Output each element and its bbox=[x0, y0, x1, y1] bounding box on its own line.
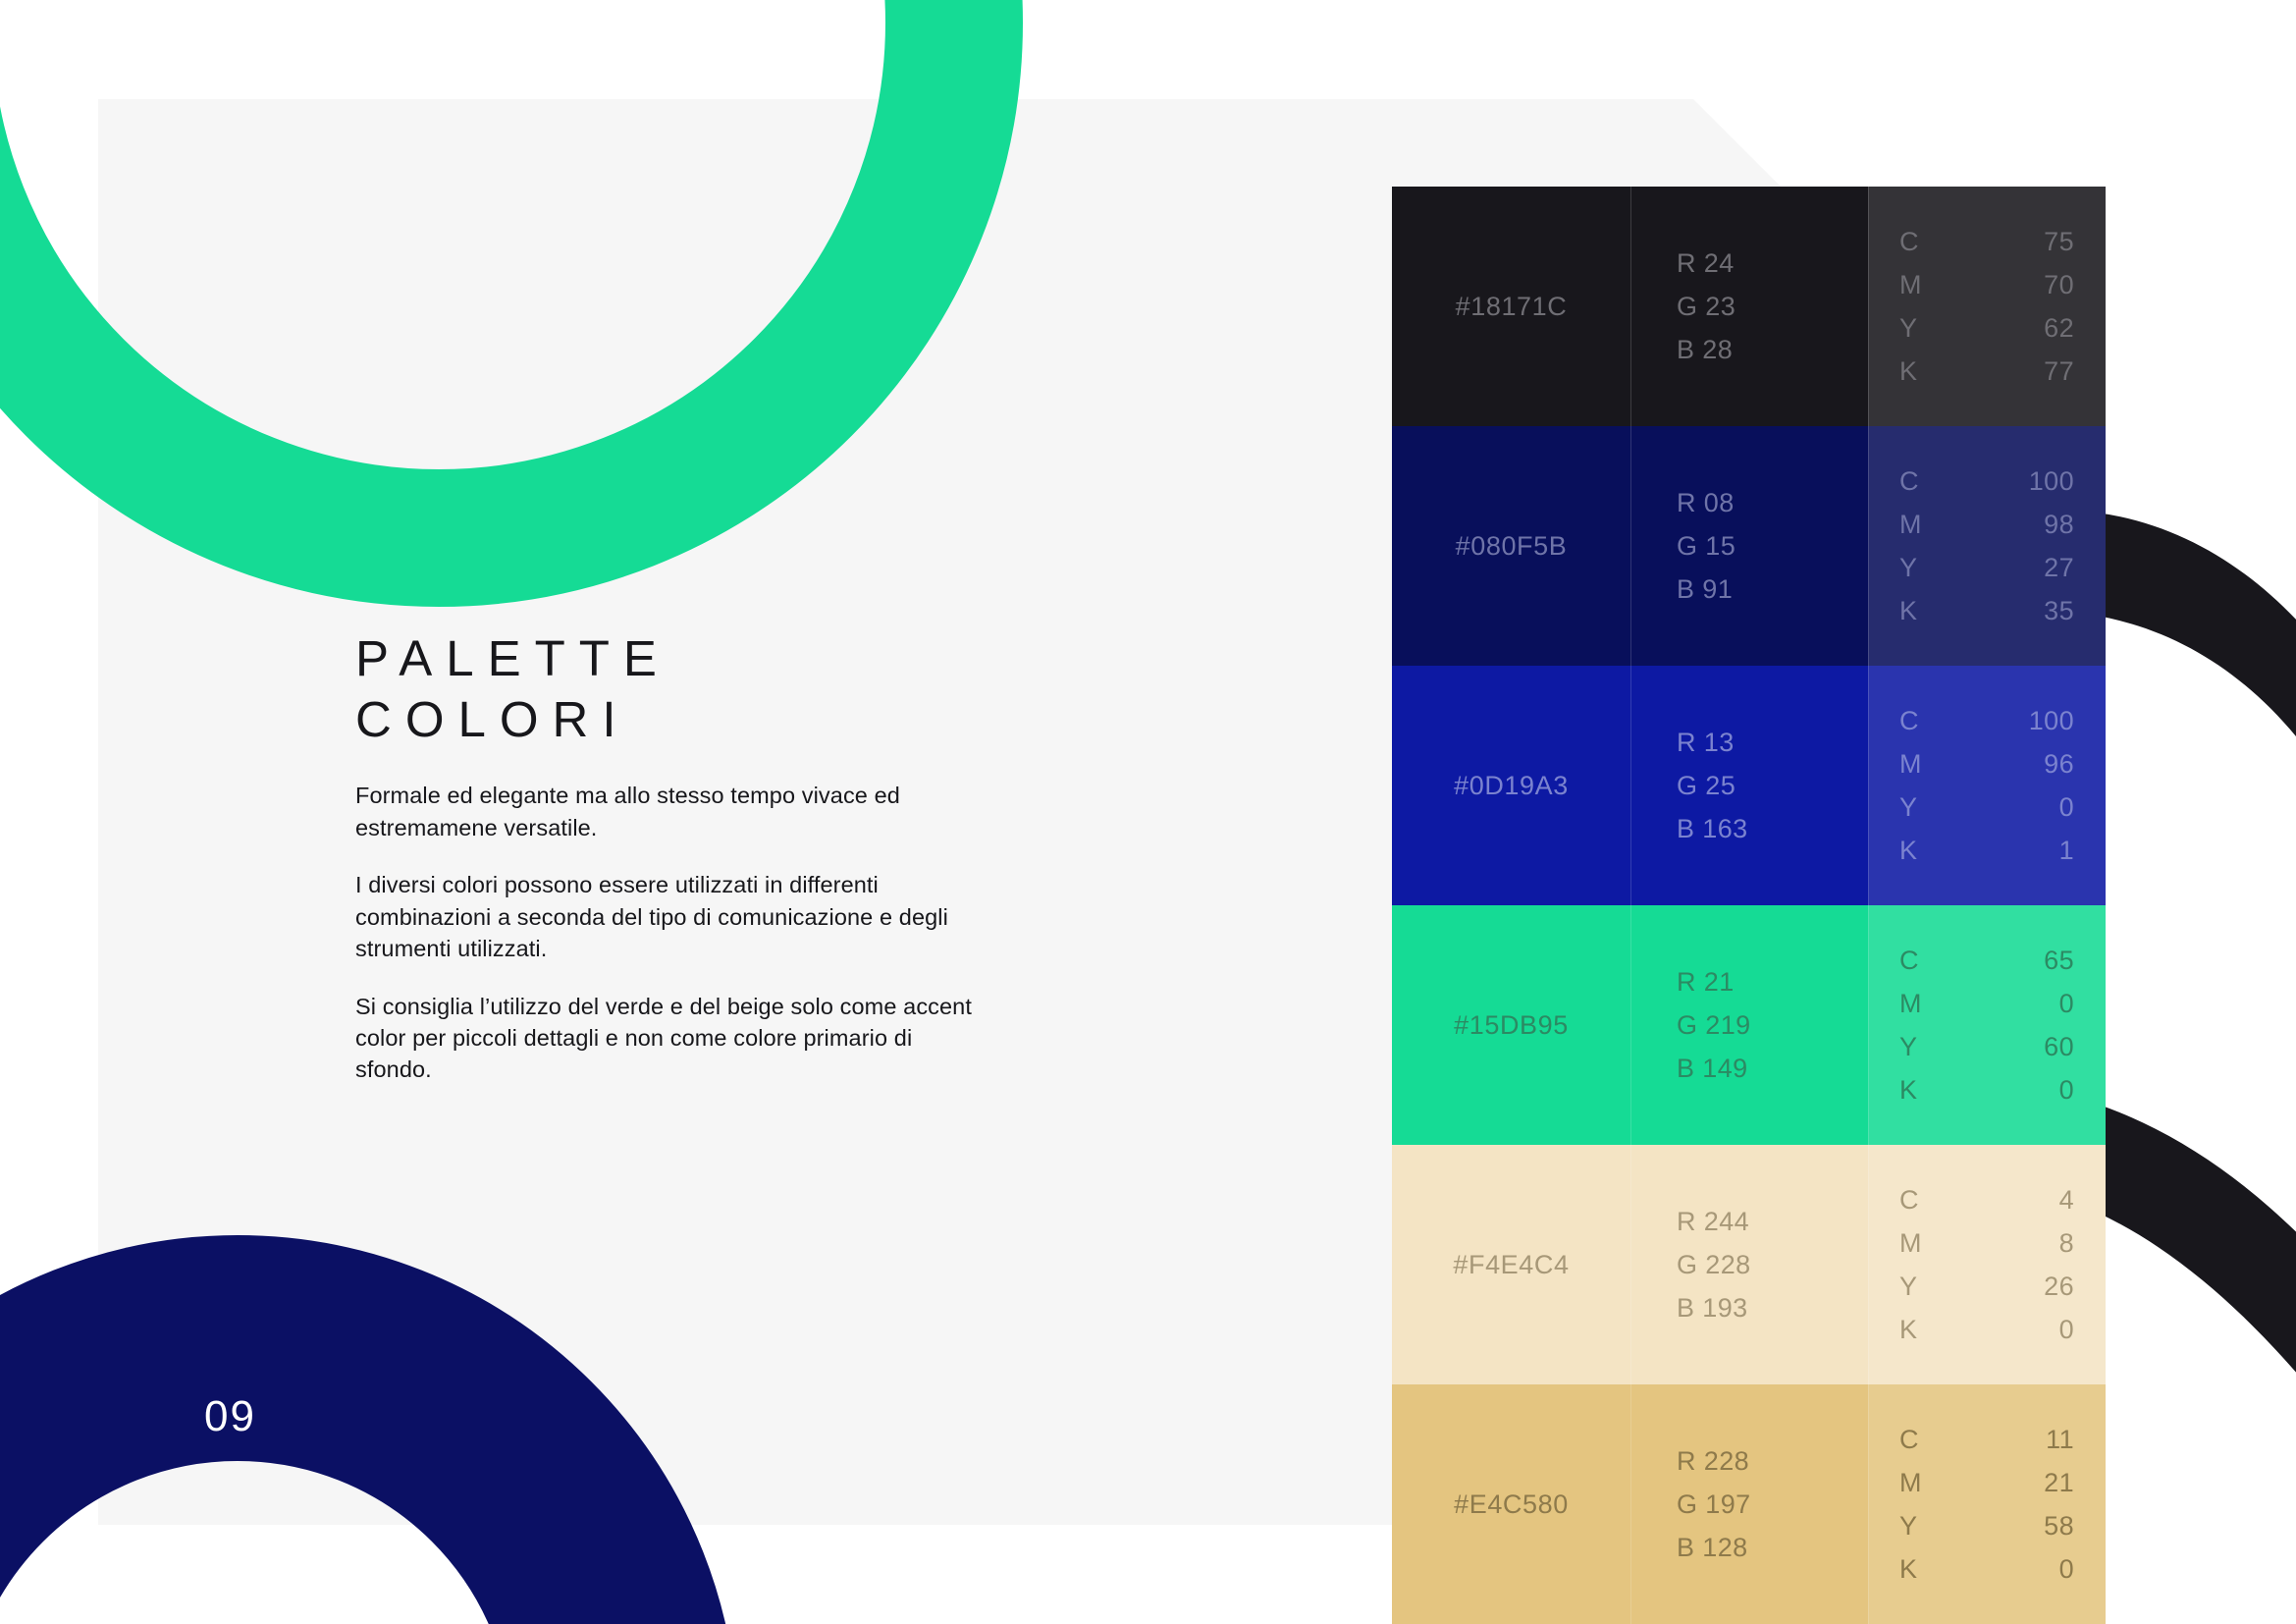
swatch-rgb-cell: R 13 G 25 B 163 bbox=[1630, 666, 1868, 905]
cmyk-value-y: 26 bbox=[2044, 1272, 2074, 1302]
text-column: PALETTE COLORI Formale ed elegante ma al… bbox=[355, 628, 984, 1086]
rgb-red-value: R 13 bbox=[1677, 728, 1748, 758]
rgb-blue-value: B 28 bbox=[1677, 335, 1735, 365]
cmyk-key-c: C bbox=[1899, 466, 1922, 497]
rgb-green-value: G 219 bbox=[1677, 1010, 1751, 1041]
swatch-row[interactable]: #E4C580 R 228 G 197 B 128 C M Y K bbox=[1392, 1384, 2106, 1624]
swatch-cmyk-cell: C M Y K 4 8 26 0 bbox=[1868, 1145, 2106, 1384]
swatch-cmyk-cell: C M Y K 100 98 27 35 bbox=[1868, 426, 2106, 666]
page-number: 09 bbox=[204, 1392, 256, 1441]
cmyk-key-k: K bbox=[1899, 836, 1922, 866]
rgb-red-value: R 08 bbox=[1677, 488, 1735, 518]
cmyk-value-m: 0 bbox=[2044, 989, 2074, 1019]
cmyk-value-c: 100 bbox=[2029, 706, 2074, 736]
cmyk-key-k: K bbox=[1899, 356, 1922, 387]
cmyk-key-k: K bbox=[1899, 596, 1922, 626]
rgb-blue-value: B 128 bbox=[1677, 1533, 1751, 1563]
cmyk-value-k: 0 bbox=[2044, 1315, 2074, 1345]
rgb-red-value: R 228 bbox=[1677, 1446, 1751, 1477]
intro-paragraph-1: Formale ed elegante ma allo stesso tempo… bbox=[355, 780, 984, 843]
cmyk-value-c: 4 bbox=[2044, 1185, 2074, 1216]
swatch-hex-cell: #080F5B bbox=[1392, 426, 1630, 666]
cmyk-key-m: M bbox=[1899, 1228, 1922, 1259]
rgb-green-value: G 15 bbox=[1677, 531, 1735, 562]
cmyk-value-m: 21 bbox=[2044, 1468, 2074, 1498]
cmyk-key-c: C bbox=[1899, 1425, 1922, 1455]
swatch-row[interactable]: #F4E4C4 R 244 G 228 B 193 C M Y K bbox=[1392, 1145, 2106, 1384]
cmyk-key-m: M bbox=[1899, 270, 1922, 300]
rgb-blue-value: B 163 bbox=[1677, 814, 1748, 844]
cmyk-value-y: 60 bbox=[2044, 1032, 2074, 1062]
cmyk-value-m: 8 bbox=[2044, 1228, 2074, 1259]
swatch-hex-cell: #E4C580 bbox=[1392, 1384, 1630, 1624]
cmyk-key-k: K bbox=[1899, 1554, 1922, 1585]
cmyk-value-c: 100 bbox=[2029, 466, 2074, 497]
cmyk-key-y: Y bbox=[1899, 792, 1922, 823]
cmyk-value-y: 27 bbox=[2029, 553, 2074, 583]
page-title: PALETTE COLORI bbox=[355, 628, 984, 750]
cmyk-value-y: 58 bbox=[2044, 1511, 2074, 1542]
cmyk-value-y: 0 bbox=[2029, 792, 2074, 823]
rgb-red-value: R 244 bbox=[1677, 1207, 1751, 1237]
color-palette-card: #18171C R 24 G 23 B 28 C M Y K bbox=[1392, 187, 2106, 1624]
swatch-hex-label: #15DB95 bbox=[1454, 1010, 1569, 1041]
swatch-rgb-cell: R 08 G 15 B 91 bbox=[1630, 426, 1868, 666]
rgb-green-value: G 23 bbox=[1677, 292, 1735, 322]
cmyk-key-k: K bbox=[1899, 1315, 1922, 1345]
cmyk-key-k: K bbox=[1899, 1075, 1922, 1106]
swatch-rgb-cell: R 24 G 23 B 28 bbox=[1630, 187, 1868, 426]
cmyk-key-c: C bbox=[1899, 1185, 1922, 1216]
cmyk-value-c: 65 bbox=[2044, 946, 2074, 976]
cmyk-value-c: 75 bbox=[2044, 227, 2074, 257]
cmyk-key-y: Y bbox=[1899, 1511, 1922, 1542]
intro-paragraph-3: Si consiglia l’utilizzo del verde e del … bbox=[355, 991, 984, 1086]
cmyk-value-k: 0 bbox=[2044, 1075, 2074, 1106]
rgb-blue-value: B 193 bbox=[1677, 1293, 1751, 1324]
cmyk-value-k: 0 bbox=[2044, 1554, 2074, 1585]
cmyk-key-y: Y bbox=[1899, 1032, 1922, 1062]
rgb-blue-value: B 149 bbox=[1677, 1054, 1751, 1084]
intro-paragraph-2: I diversi colori possono essere utilizza… bbox=[355, 869, 984, 964]
cmyk-value-c: 11 bbox=[2044, 1425, 2074, 1455]
swatch-rgb-cell: R 21 G 219 B 149 bbox=[1630, 905, 1868, 1145]
swatch-hex-label: #F4E4C4 bbox=[1453, 1250, 1569, 1280]
cmyk-key-c: C bbox=[1899, 706, 1922, 736]
swatch-hex-cell: #0D19A3 bbox=[1392, 666, 1630, 905]
swatch-hex-cell: #18171C bbox=[1392, 187, 1630, 426]
rgb-green-value: G 228 bbox=[1677, 1250, 1751, 1280]
cmyk-key-y: Y bbox=[1899, 553, 1922, 583]
rgb-green-value: G 197 bbox=[1677, 1489, 1751, 1520]
slide-canvas: PALETTE COLORI Formale ed elegante ma al… bbox=[0, 0, 2296, 1624]
swatch-cmyk-cell: C M Y K 100 96 0 1 bbox=[1868, 666, 2106, 905]
swatch-row[interactable]: #15DB95 R 21 G 219 B 149 C M Y K bbox=[1392, 905, 2106, 1145]
cmyk-value-m: 70 bbox=[2044, 270, 2074, 300]
swatch-hex-label: #E4C580 bbox=[1454, 1489, 1569, 1520]
cmyk-key-c: C bbox=[1899, 227, 1922, 257]
cmyk-value-k: 77 bbox=[2044, 356, 2074, 387]
swatch-row[interactable]: #080F5B R 08 G 15 B 91 C M Y K bbox=[1392, 426, 2106, 666]
swatch-row[interactable]: #0D19A3 R 13 G 25 B 163 C M Y K bbox=[1392, 666, 2106, 905]
cmyk-key-m: M bbox=[1899, 510, 1922, 540]
cmyk-key-m: M bbox=[1899, 749, 1922, 780]
cmyk-value-y: 62 bbox=[2044, 313, 2074, 344]
rgb-blue-value: B 91 bbox=[1677, 574, 1735, 605]
swatch-hex-cell: #F4E4C4 bbox=[1392, 1145, 1630, 1384]
cmyk-key-y: Y bbox=[1899, 313, 1922, 344]
swatch-rgb-cell: R 244 G 228 B 193 bbox=[1630, 1145, 1868, 1384]
swatch-hex-label: #18171C bbox=[1456, 292, 1568, 322]
swatch-hex-cell: #15DB95 bbox=[1392, 905, 1630, 1145]
cmyk-key-m: M bbox=[1899, 1468, 1922, 1498]
swatch-rgb-cell: R 228 G 197 B 128 bbox=[1630, 1384, 1868, 1624]
cmyk-key-y: Y bbox=[1899, 1272, 1922, 1302]
cmyk-value-m: 96 bbox=[2029, 749, 2074, 780]
rgb-red-value: R 21 bbox=[1677, 967, 1751, 998]
rgb-green-value: G 25 bbox=[1677, 771, 1748, 801]
rgb-red-value: R 24 bbox=[1677, 248, 1735, 279]
cmyk-value-m: 98 bbox=[2029, 510, 2074, 540]
swatch-cmyk-cell: C M Y K 75 70 62 77 bbox=[1868, 187, 2106, 426]
cmyk-value-k: 1 bbox=[2029, 836, 2074, 866]
navy-ring-decoration bbox=[0, 1235, 738, 1624]
cmyk-key-m: M bbox=[1899, 989, 1922, 1019]
swatch-cmyk-cell: C M Y K 65 0 60 0 bbox=[1868, 905, 2106, 1145]
swatch-hex-label: #0D19A3 bbox=[1454, 771, 1569, 801]
cmyk-key-c: C bbox=[1899, 946, 1922, 976]
swatch-hex-label: #080F5B bbox=[1456, 531, 1568, 562]
cmyk-value-k: 35 bbox=[2029, 596, 2074, 626]
swatch-row[interactable]: #18171C R 24 G 23 B 28 C M Y K bbox=[1392, 187, 2106, 426]
swatch-cmyk-cell: C M Y K 11 21 58 0 bbox=[1868, 1384, 2106, 1624]
green-ring-decoration bbox=[0, 0, 1023, 607]
